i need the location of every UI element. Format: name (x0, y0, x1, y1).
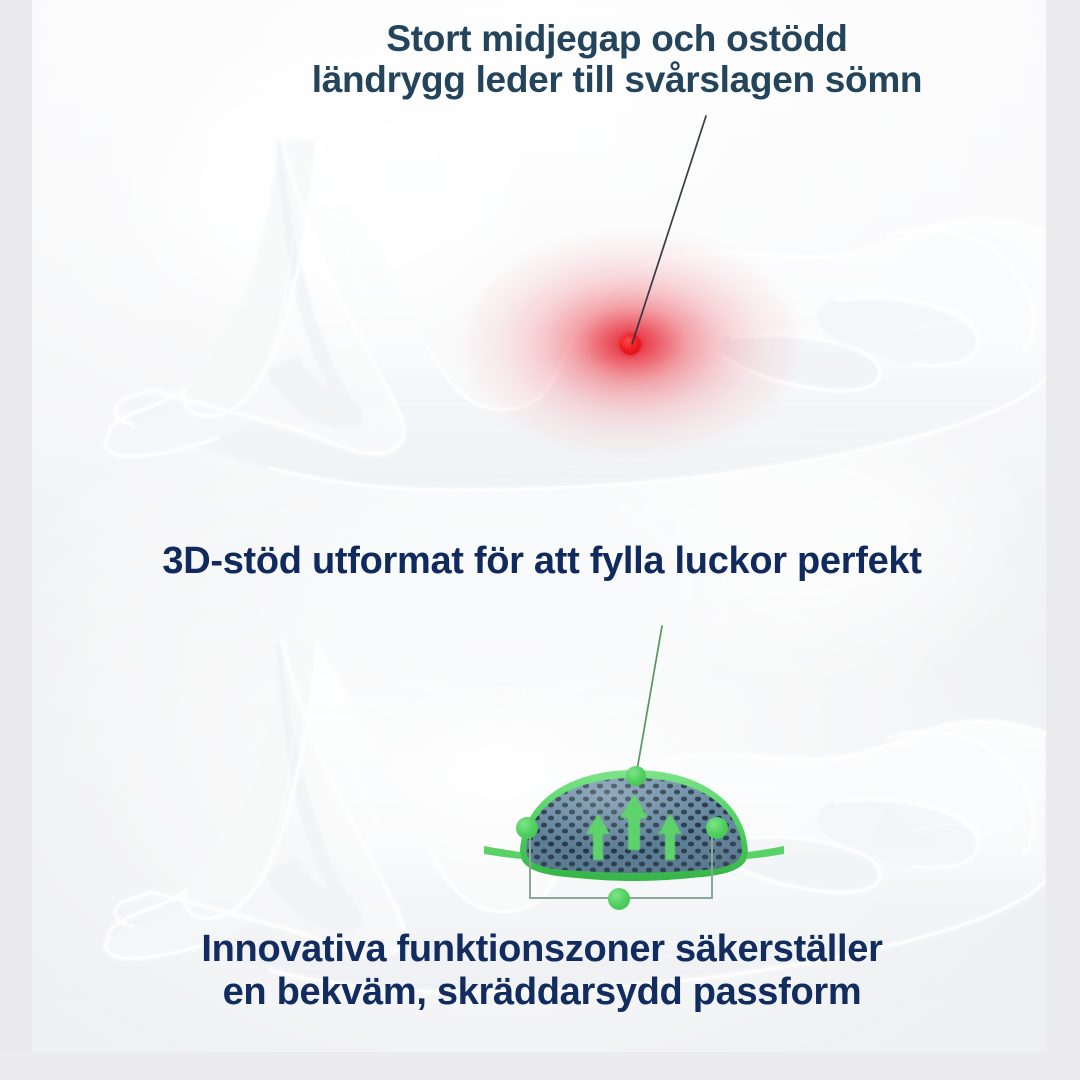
frame-edge-bottom (0, 1052, 1080, 1080)
measure-bracket-left (529, 830, 531, 899)
frame-edge-right (1046, 0, 1080, 1080)
anchor-dot-top-icon (626, 766, 646, 786)
anchor-dot-right-icon (706, 817, 728, 839)
heading-benefit: Innovativa funktionszoner säkerställer e… (92, 928, 992, 1013)
anchor-dot-left-icon (516, 817, 538, 839)
measure-bracket-right (711, 830, 713, 899)
image-frame: Stort midjegap och ostödd ländrygg leder… (32, 0, 1046, 1052)
leader-line-bottom (612, 614, 692, 784)
poster-root: Stort midjegap och ostödd ländrygg leder… (0, 0, 1080, 1080)
heading-solution: 3D-stöd utformat för att fylla luckor pe… (42, 540, 1042, 583)
heading-problem: Stort midjegap och ostödd ländrygg leder… (202, 18, 1032, 101)
anchor-dot-bottom-icon (608, 888, 630, 910)
frame-edge-left (0, 0, 32, 1080)
leader-line-top (602, 100, 722, 360)
